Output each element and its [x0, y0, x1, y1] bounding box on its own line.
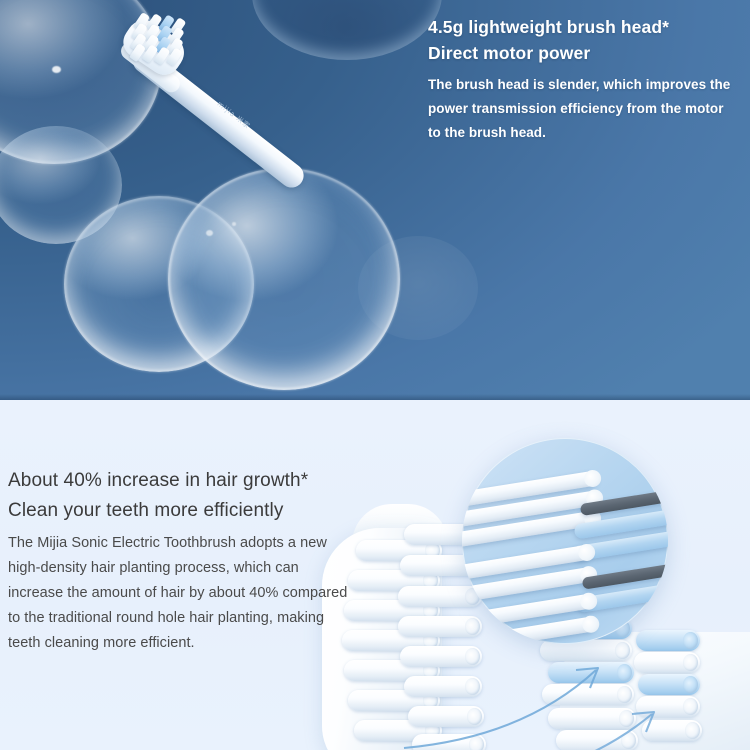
top-feature-panel: mijia 米家 4.5g lightweight brush head* Di…: [0, 0, 750, 400]
product-detail-page: mijia 米家 4.5g lightweight brush head* Di…: [0, 0, 750, 750]
bottom-feature-panel: About 40% increase in hair growth* Clean…: [0, 400, 750, 750]
toothbrush-image: mijia 米家: [110, 0, 350, 204]
bristle-tuft-blue: [636, 630, 700, 651]
bottom-heading-line1: About 40% increase in hair growth*: [8, 470, 308, 491]
magnifier-inset: [462, 438, 668, 644]
top-heading-line2: Direct motor power: [428, 43, 590, 63]
bristle-tuft: [548, 708, 636, 729]
bristle-tuft: [542, 684, 634, 705]
bubble-highlight-speck: [206, 230, 213, 236]
top-text-block: 4.5g lightweight brush head* Direct moto…: [428, 14, 736, 145]
bottom-text-block: About 40% increase in hair growth* Clean…: [8, 466, 354, 656]
bristle-tuft: [412, 734, 486, 750]
bristle-tuft-blue: [548, 662, 634, 683]
bristle-tuft: [642, 720, 702, 741]
bristle-tuft: [400, 646, 482, 667]
bottom-heading-line2: Clean your teeth more efficiently: [8, 500, 283, 521]
bristle-tuft: [408, 706, 484, 727]
top-heading: 4.5g lightweight brush head* Direct moto…: [428, 14, 736, 66]
bristle-tuft: [634, 652, 700, 673]
bottom-heading: About 40% increase in hair growth* Clean…: [8, 466, 354, 526]
bristle-tuft-blue: [638, 674, 700, 695]
top-heading-line1: 4.5g lightweight brush head*: [428, 17, 669, 37]
bubble-highlight-speck: [232, 222, 236, 226]
bristle-tuft: [636, 696, 700, 717]
bristle-tuft: [404, 676, 482, 697]
bristle-tuft: [556, 730, 638, 750]
bottom-body-text: The Mijia Sonic Electric Toothbrush adop…: [8, 531, 354, 656]
top-body-text: The brush head is slender, which improve…: [428, 73, 736, 145]
bubble-highlight-speck: [52, 66, 61, 73]
